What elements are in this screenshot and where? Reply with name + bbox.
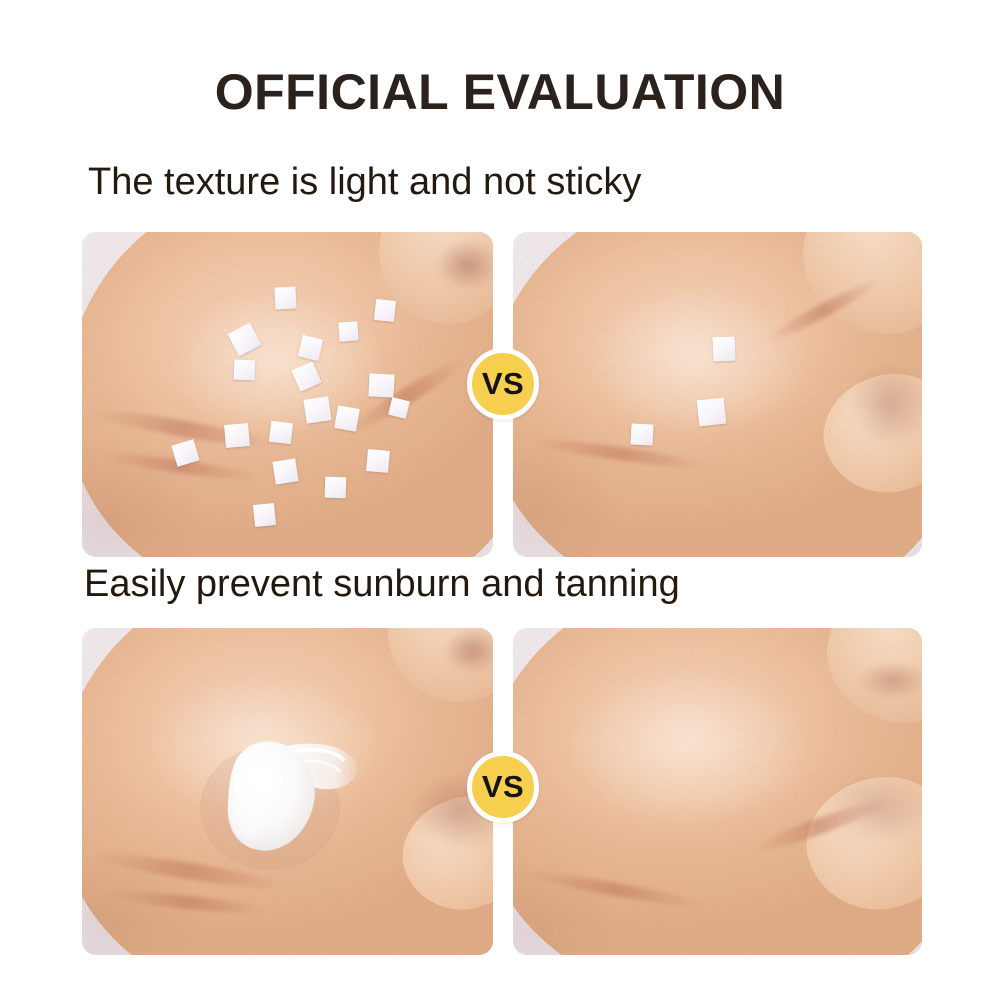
cream-dollop: [82, 628, 493, 955]
paper-square: [303, 396, 331, 423]
paper-square: [334, 405, 360, 431]
photo-panel-nonsticky-few-squares: [513, 232, 922, 557]
paper-square: [253, 503, 276, 527]
paper-square: [630, 423, 653, 445]
photo-panel-cream-applied: [82, 628, 493, 955]
paper-square: [338, 321, 358, 341]
page-title: OFFICIAL EVALUATION: [0, 62, 1000, 122]
vs-badge-sunburn: VS: [467, 751, 539, 823]
section-caption-texture: The texture is light and not sticky: [88, 160, 641, 204]
paper-square: [224, 423, 250, 448]
paper-square: [274, 286, 296, 309]
paper-square: [234, 360, 256, 381]
paper-square: [374, 299, 396, 322]
paper-square: [325, 477, 347, 499]
vs-badge-texture: VS: [467, 348, 539, 420]
paper-square: [713, 337, 736, 362]
paper-square: [272, 458, 298, 484]
paper-square: [368, 373, 394, 397]
hand-image-few-squares: [513, 232, 922, 557]
paper-square: [269, 421, 293, 445]
photo-panel-cream-absorbed: [513, 628, 922, 955]
paper-square: [697, 398, 727, 427]
hand-image-absorbed: [513, 628, 922, 955]
photo-panel-sticky-many-squares: [82, 232, 493, 557]
section-caption-sunburn: Easily prevent sunburn and tanning: [84, 562, 680, 606]
paper-square: [366, 449, 390, 473]
hand-image-many-squares: [82, 232, 493, 557]
product-evaluation-infographic: OFFICIAL EVALUATION The texture is light…: [0, 0, 1000, 1000]
